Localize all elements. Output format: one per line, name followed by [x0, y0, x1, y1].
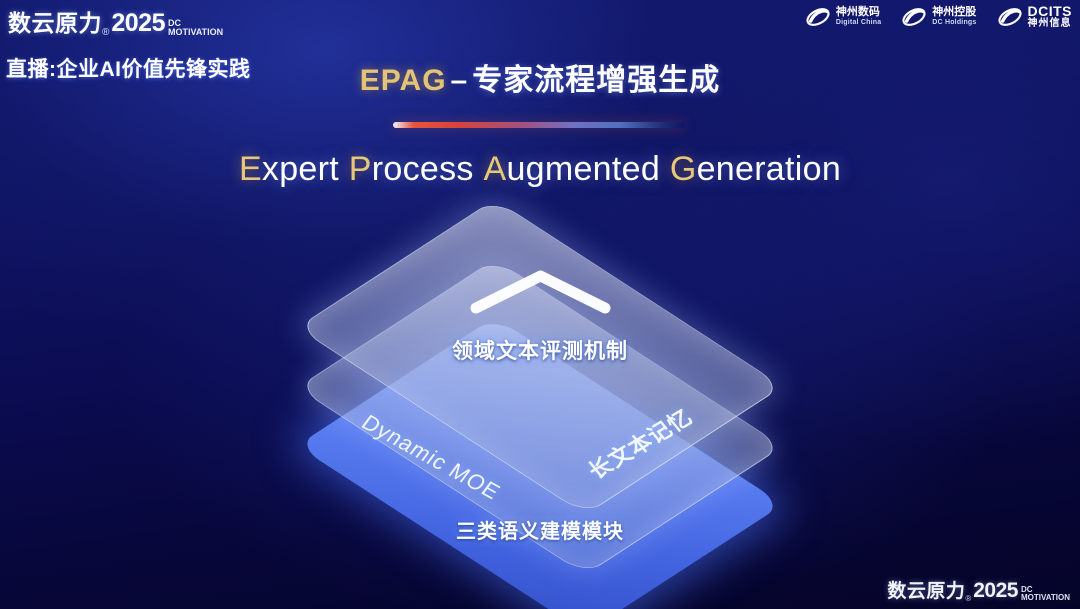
swoosh-icon: [805, 4, 831, 30]
title-dash: –: [451, 64, 469, 97]
title-divider: [393, 122, 685, 128]
partner-name-cn: DCITS: [1028, 4, 1073, 19]
subtitle-cap-p: P: [349, 150, 372, 188]
partner-logo-dc-holdings: 神州控股 DC Holdings: [901, 4, 976, 30]
title-acronym: EPAG: [360, 64, 447, 97]
partner-logo-dcits: DCITS 神州信息: [997, 4, 1073, 30]
brand-tagline: DC MOTIVATION: [168, 19, 223, 37]
brand-year: 2025: [973, 579, 1018, 603]
subtitle-word-augmented: ugmented: [506, 150, 660, 188]
subtitle-cap-a: A: [483, 150, 506, 188]
partner-text: DCITS 神州信息: [1028, 4, 1073, 30]
partner-logo-group: 神州数码 Digital China 神州控股 DC Holdings: [805, 4, 1072, 30]
brand-registered-mark: ®: [102, 27, 109, 38]
brand-year: 2025: [111, 9, 165, 38]
brand-logo-top: 数云原力 ® 2025 DC MOTIVATION: [8, 4, 223, 38]
brand-tagline-line2: MOTIVATION: [168, 27, 223, 37]
subtitle-word-generation: eneration: [697, 150, 841, 188]
swoosh-icon: [901, 4, 927, 30]
layered-architecture-diagram: 领域文本评测机制 Dynamic MOE 长文本记忆 三类语义建模模块: [0, 218, 1080, 578]
brand-name-cn: 数云原力: [8, 4, 102, 38]
brand-registered-mark: ®: [965, 594, 971, 603]
partner-text: 神州控股 DC Holdings: [932, 7, 976, 26]
partner-name-en: 神州信息: [1028, 19, 1073, 30]
partner-logo-digital-china: 神州数码 Digital China: [805, 4, 881, 30]
chevron-up-icon: [468, 268, 613, 314]
slide-subtitle: Expert Process Augmented Generation: [0, 150, 1080, 189]
partner-name-en: Digital China: [836, 19, 881, 27]
partner-name-cn: 神州数码: [836, 7, 881, 19]
partner-name-cn: 神州控股: [932, 7, 976, 19]
brand-tagline-line2: MOTIVATION: [1021, 593, 1070, 602]
brand-name-cn: 数云原力: [887, 576, 965, 603]
brand-logo-footer: 数云原力 ® 2025 DC MOTIVATION: [887, 576, 1070, 603]
subtitle-cap-g: G: [670, 150, 697, 188]
layer-bottom-label: 三类语义建模模块: [0, 515, 1080, 544]
swoosh-icon: [997, 4, 1023, 30]
subtitle-word-expert: xpert: [262, 150, 339, 188]
subtitle-word-process: rocess: [372, 150, 474, 188]
partner-name-en: DC Holdings: [932, 19, 976, 27]
slide-title: EPAG–专家流程增强生成: [0, 55, 1080, 99]
slide-canvas: 数云原力 ® 2025 DC MOTIVATION 直播:企业AI价值先锋实践 …: [0, 0, 1080, 609]
brand-tagline: DC MOTIVATION: [1021, 586, 1070, 602]
subtitle-cap-e: E: [239, 150, 262, 188]
layer-top-label: 领域文本评测机制: [0, 335, 1080, 365]
partner-text: 神州数码 Digital China: [836, 7, 881, 26]
title-chinese: 专家流程增强生成: [472, 64, 720, 97]
